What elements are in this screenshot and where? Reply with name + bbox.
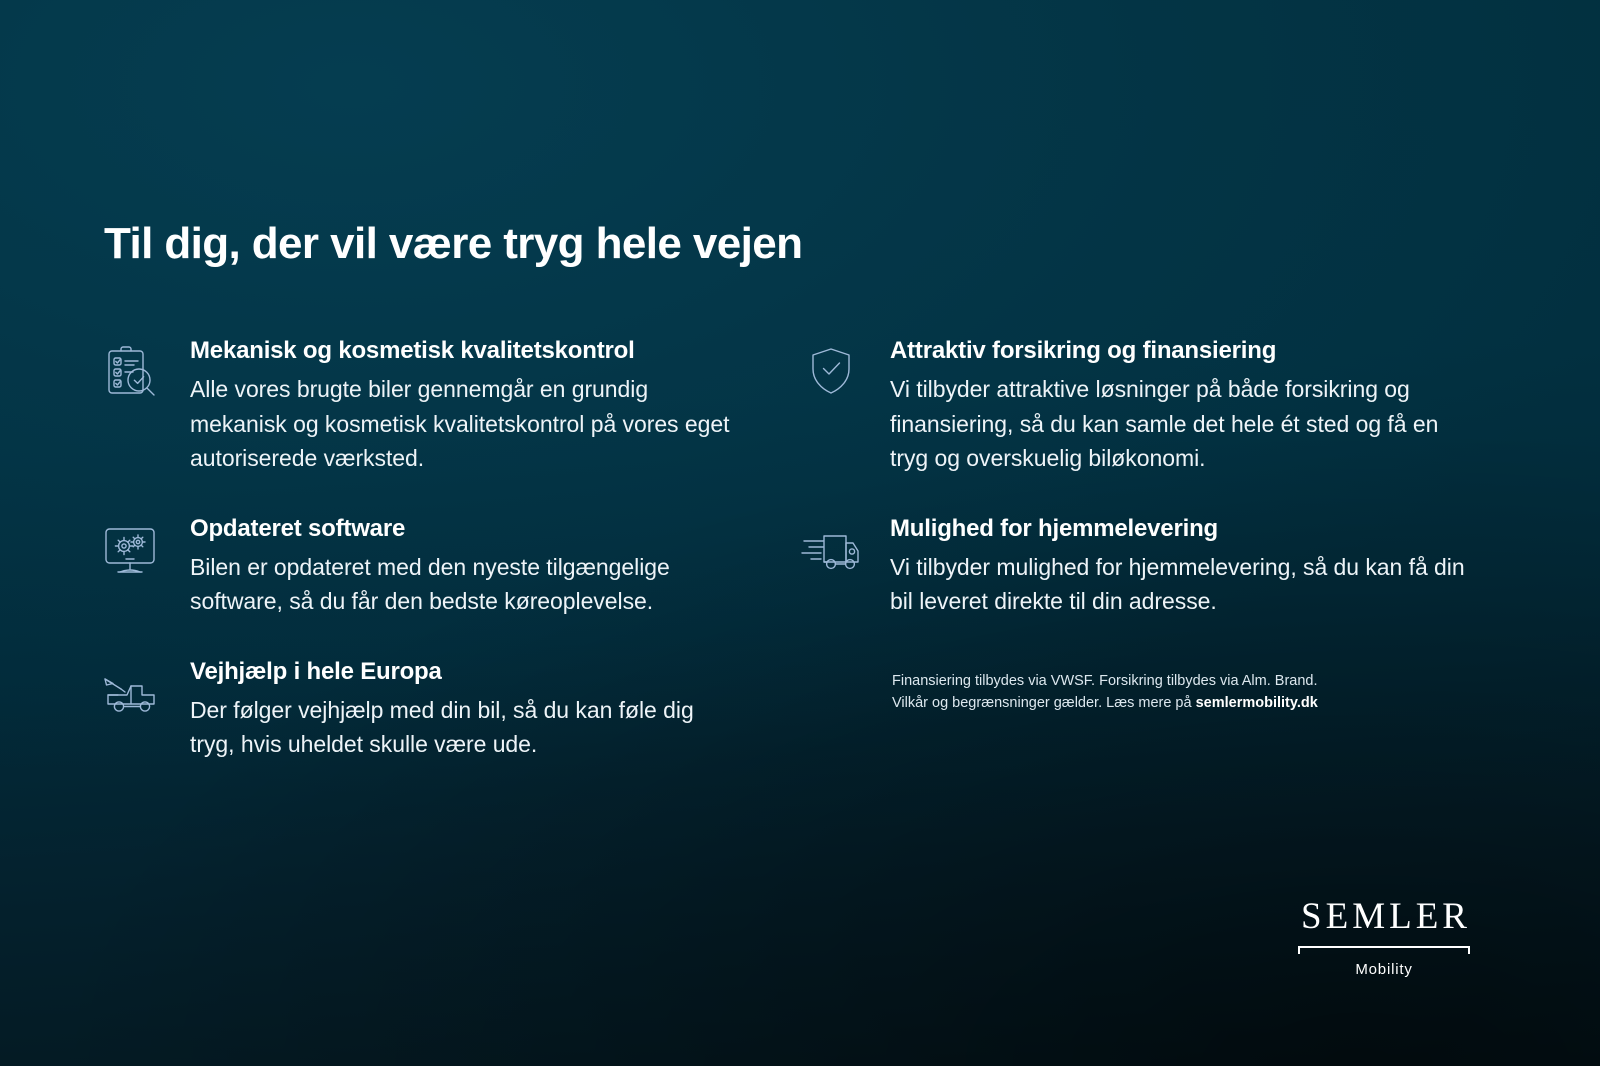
semlermobility-link[interactable]: semlermobility.dk [1196, 695, 1318, 711]
feature-title: Attraktiv forsikring og finansiering [890, 336, 1480, 366]
clipboard-checklist-magnifier-icon [100, 344, 162, 400]
feature-title: Vejhjælp i hele Europa [190, 657, 740, 687]
page-title: Til dig, der vil være tryg hele vejen [104, 219, 802, 268]
feature-insurance-financing: Attraktiv forsikring og finansiering Vi … [800, 336, 1480, 476]
disclaimer-line-1: Finansiering tilbydes via VWSF. Forsikri… [892, 670, 1412, 692]
features-column-right: Attraktiv forsikring og finansiering Vi … [800, 336, 1480, 619]
feature-roadside-assistance: Vejhjælp i hele Europa Der følger vejhjæ… [100, 657, 740, 762]
disclaimer-line-2: Vilkår og begrænsninger gælder. Læs mere… [892, 692, 1412, 714]
features-column-left: Mekanisk og kosmetisk kvalitetskontrol A… [100, 336, 740, 762]
feature-title: Opdateret software [190, 514, 740, 544]
disclaimer-line-2-text: Vilkår og begrænsninger gælder. Læs mere… [892, 695, 1196, 711]
logo-divider-rule [1296, 946, 1472, 956]
feature-home-delivery: Mulighed for hjemmelevering Vi tilbyder … [800, 514, 1480, 619]
delivery-truck-icon [800, 522, 862, 578]
legal-disclaimer: Finansiering tilbydes via VWSF. Forsikri… [892, 670, 1412, 715]
feature-quality-control: Mekanisk og kosmetisk kvalitetskontrol A… [100, 336, 740, 476]
feature-body: Vi tilbyder mulighed for hjemmelevering,… [890, 550, 1480, 619]
feature-title: Mekanisk og kosmetisk kvalitetskontrol [190, 336, 740, 366]
shield-check-icon [800, 344, 862, 400]
feature-title: Mulighed for hjemmelevering [890, 514, 1480, 544]
logo-wordmark: SEMLER [1296, 898, 1472, 935]
feature-body: Der følger vejhjælp med din bil, så du k… [190, 693, 740, 762]
tow-truck-icon [100, 665, 162, 721]
semler-mobility-logo: SEMLER Mobility [1296, 898, 1472, 978]
feature-updated-software: Opdateret software Bilen er opdateret me… [100, 514, 740, 619]
logo-subtitle: Mobility [1296, 961, 1472, 978]
feature-body: Vi tilbyder attraktive løsninger på både… [890, 372, 1480, 476]
feature-body: Alle vores brugte biler gennemgår en gru… [190, 372, 740, 476]
promo-panel: Til dig, der vil være tryg hele vejen [0, 0, 1600, 1066]
feature-body: Bilen er opdateret med den nyeste tilgæn… [190, 550, 740, 619]
monitor-gears-icon [100, 522, 162, 578]
